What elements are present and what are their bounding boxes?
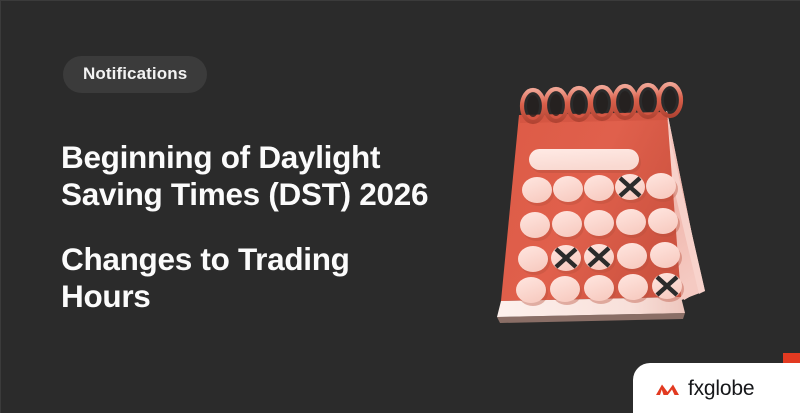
- page-subtitle-line-2: Hours: [61, 278, 461, 315]
- fxglobe-wordmark: fxglobe: [688, 378, 754, 399]
- page-subtitle: Changes to Trading Hours: [61, 241, 461, 314]
- page-title: Beginning of Daylight Saving Times (DST)…: [61, 139, 491, 212]
- page-title-line-2: Saving Times (DST) 2026: [61, 176, 491, 213]
- page-title-line-1: Beginning of Daylight: [61, 139, 491, 176]
- spiral-ring: [637, 85, 659, 117]
- page-subtitle-line-1: Changes to Trading: [61, 241, 461, 278]
- desk-calendar-illustration: [471, 79, 741, 329]
- fxglobe-logo: fxglobe: [633, 363, 800, 413]
- calendar-title-bar: [529, 149, 641, 173]
- fxglobe-mountain-mark-icon: [655, 381, 680, 397]
- spiral-ring: [659, 84, 681, 116]
- notification-banner: Notifications Beginning of Daylight Savi…: [0, 0, 800, 413]
- notifications-badge: Notifications: [63, 56, 207, 93]
